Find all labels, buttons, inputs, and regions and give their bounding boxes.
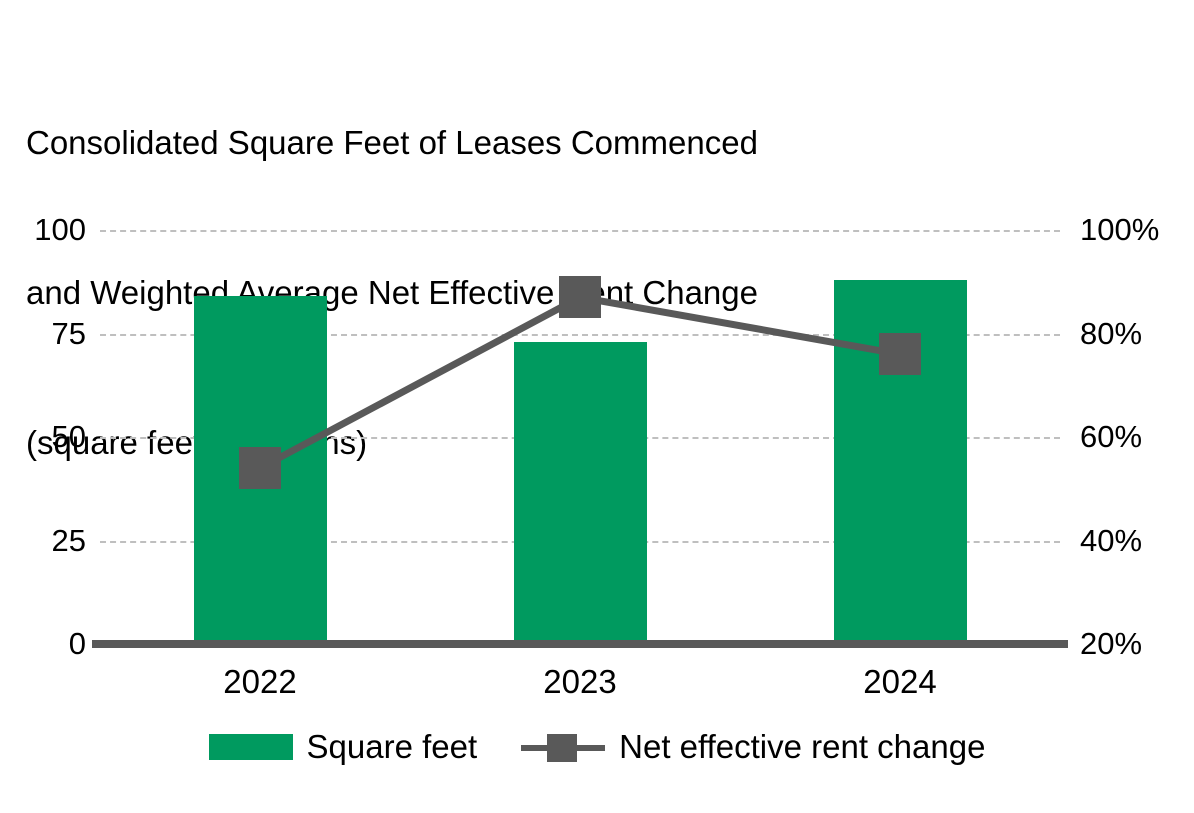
line-marker-2022[interactable] xyxy=(239,447,281,489)
legend-label-net-effective-rent-change: Net effective rent change xyxy=(619,729,985,765)
chart-legend: Square feet Net effective rent change xyxy=(0,722,1194,772)
legend-label-square-feet: Square feet xyxy=(307,729,478,765)
y-axis-right-tick-80: 80% xyxy=(1080,318,1194,349)
x-axis-label-2023: 2023 xyxy=(420,662,740,702)
x-axis-label-2024: 2024 xyxy=(740,662,1060,702)
y-axis-right-tick-40: 40% xyxy=(1080,525,1194,556)
bar-swatch-icon xyxy=(209,734,293,760)
chart-title-line-1: Consolidated Square Feet of Leases Comme… xyxy=(26,118,1026,168)
y-axis-left-tick-50: 50 xyxy=(0,421,86,452)
line-marker-2024[interactable] xyxy=(879,333,921,375)
x-axis-labels: 202220232024 xyxy=(100,662,1060,708)
chart-container: Consolidated Square Feet of Leases Comme… xyxy=(0,0,1194,813)
y-axis-right-tick-20: 20% xyxy=(1080,628,1194,659)
legend-square-marker-icon xyxy=(547,734,577,762)
legend-item-square-feet[interactable]: Square feet xyxy=(209,729,478,765)
x-axis-label-2022: 2022 xyxy=(100,662,420,702)
y-axis-left-tick-0: 0 xyxy=(0,628,86,659)
y-axis-left-tick-25: 25 xyxy=(0,525,86,556)
y-axis-left-tick-75: 75 xyxy=(0,318,86,349)
rent-change-line xyxy=(260,297,900,468)
y-axis-left: 100 75 50 25 0 xyxy=(0,0,86,813)
line-marker-2023[interactable] xyxy=(559,276,601,318)
legend-item-net-effective-rent-change[interactable]: Net effective rent change xyxy=(521,729,985,765)
y-axis-right-tick-100: 100% xyxy=(1080,214,1194,245)
y-axis-right: 100% 80% 60% 40% 20% xyxy=(1080,0,1194,813)
plot-area xyxy=(100,230,1060,644)
y-axis-right-tick-60: 60% xyxy=(1080,421,1194,452)
line-marker-swatch-icon xyxy=(521,734,605,760)
x-axis-line xyxy=(92,640,1068,648)
y-axis-left-tick-100: 100 xyxy=(0,214,86,245)
